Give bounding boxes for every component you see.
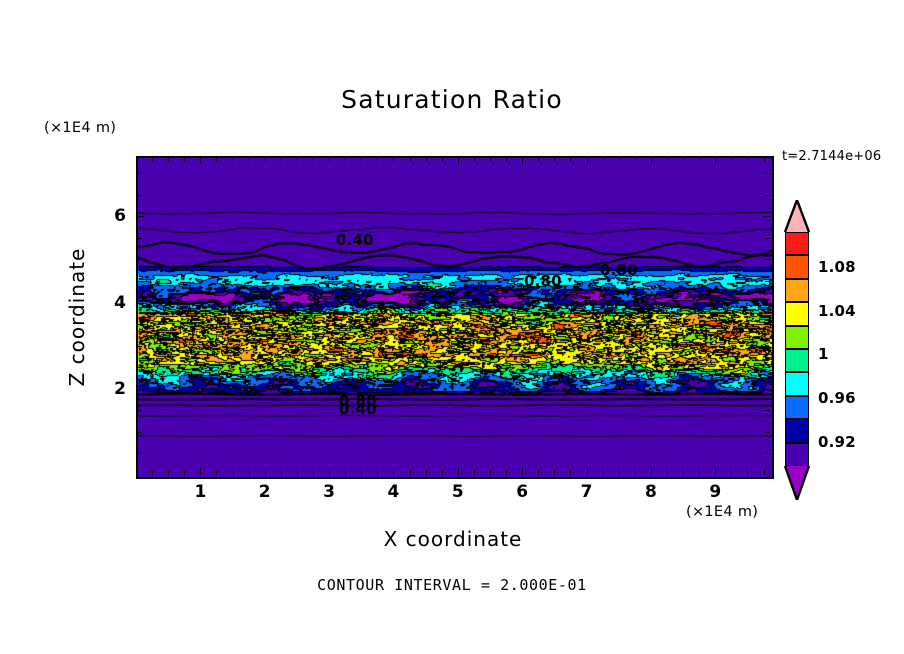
x-tick-top: [522, 157, 523, 164]
x-tick-bottom: [667, 470, 668, 475]
colorbar-tick-label: 1.08: [818, 258, 856, 276]
x-tick-bottom: [490, 470, 491, 475]
x-tick-label: 1: [180, 482, 220, 502]
x-tick-top: [747, 157, 748, 162]
y-tick-left: [137, 389, 144, 390]
y-tick-left: [137, 259, 142, 260]
figure-root: Saturation Ratio (×1E4 m) t=2.7144e+06 1…: [0, 0, 904, 654]
x-tick-label: 5: [438, 482, 478, 502]
x-tick-top: [313, 157, 314, 162]
x-tick-top: [265, 157, 266, 164]
x-tick-top: [570, 157, 571, 162]
x-tick-top: [603, 157, 604, 162]
x-tick-bottom: [458, 468, 459, 475]
contour-field: [138, 158, 772, 477]
colorbar-tick-label: 0.96: [818, 389, 856, 407]
y-tick-left: [137, 324, 142, 325]
y-tick-label: 2: [96, 379, 126, 399]
colorbar-band: [785, 349, 809, 372]
x-tick-top: [554, 157, 555, 162]
y-tick-label: 4: [96, 293, 126, 313]
y-tick-left: [137, 281, 142, 282]
y-tick-right: [765, 346, 770, 347]
colorbar-top-arrow: [785, 202, 809, 232]
x-tick-bottom: [410, 470, 411, 475]
x-tick-bottom: [393, 468, 394, 475]
y-tick-left: [137, 453, 142, 454]
colorbar-band: [785, 326, 809, 349]
x-tick-label: 9: [695, 482, 735, 502]
x-tick-bottom: [715, 468, 716, 475]
colorbar-band: [785, 255, 809, 278]
y-tick-right: [765, 367, 770, 368]
x-tick-top: [152, 157, 153, 162]
x-tick-label: 2: [245, 482, 285, 502]
x-tick-bottom: [683, 470, 684, 475]
x-tick-bottom: [313, 470, 314, 475]
y-tick-left: [137, 238, 142, 239]
colorbar-tick-label: 0.92: [818, 433, 856, 451]
x-tick-top: [249, 157, 250, 162]
y-tick-right: [765, 410, 770, 411]
x-tick-bottom: [474, 470, 475, 475]
y-tick-right: [765, 453, 770, 454]
x-tick-bottom: [361, 470, 362, 475]
y-tick-left: [137, 367, 142, 368]
y-tick-left: [137, 432, 142, 433]
y-tick-right: [763, 389, 770, 390]
x-tick-top: [715, 157, 716, 164]
x-tick-top: [184, 157, 185, 162]
x-tick-top: [377, 157, 378, 162]
y-tick-right: [763, 303, 770, 304]
y-tick-left: [137, 173, 142, 174]
contour-label: 0.40: [339, 400, 377, 418]
contour-interval-caption: CONTOUR INTERVAL = 2.000E-01: [0, 576, 904, 594]
x-tick-bottom: [168, 470, 169, 475]
x-tick-bottom: [281, 470, 282, 475]
x-tick-bottom: [345, 470, 346, 475]
x-tick-bottom: [747, 470, 748, 475]
timestamp-label: t=2.7144e+06: [782, 149, 881, 164]
x-tick-top: [474, 157, 475, 162]
y-axis-title: Z coordinate: [65, 227, 89, 407]
x-tick-label: 3: [309, 482, 349, 502]
x-tick-top: [458, 157, 459, 164]
x-tick-bottom: [506, 470, 507, 475]
x-tick-top: [731, 157, 732, 162]
y-tick-left: [137, 216, 144, 217]
x-tick-top: [699, 157, 700, 162]
x-unit-label: (×1E4 m): [686, 504, 758, 520]
x-tick-bottom: [377, 470, 378, 475]
colorbar-band: [785, 372, 809, 395]
x-tick-top: [651, 157, 652, 164]
x-tick-top: [297, 157, 298, 162]
y-tick-right: [763, 216, 770, 217]
x-tick-top: [506, 157, 507, 162]
y-tick-left: [137, 346, 142, 347]
x-tick-top: [281, 157, 282, 162]
chart-title: Saturation Ratio: [0, 85, 904, 114]
x-tick-bottom: [570, 470, 571, 475]
colorbar-tick-label: 1.04: [818, 302, 856, 320]
x-tick-bottom: [426, 470, 427, 475]
x-tick-bottom: [699, 470, 700, 475]
x-tick-label: 8: [631, 482, 671, 502]
x-tick-label: 7: [567, 482, 607, 502]
colorbar-band: [785, 443, 809, 466]
plot-area: [136, 156, 774, 479]
x-tick-top: [393, 157, 394, 164]
colorbar-band: [785, 396, 809, 419]
x-tick-bottom: [200, 468, 201, 475]
colorbar: [785, 232, 809, 466]
x-tick-bottom: [184, 470, 185, 475]
colorbar-tick-label: 1: [818, 345, 829, 363]
x-tick-bottom: [538, 470, 539, 475]
y-tick-right: [765, 324, 770, 325]
y-tick-right: [765, 259, 770, 260]
x-tick-bottom: [603, 470, 604, 475]
x-tick-label: 6: [502, 482, 542, 502]
x-tick-top: [635, 157, 636, 162]
x-tick-top: [216, 157, 217, 162]
x-tick-bottom: [265, 468, 266, 475]
x-tick-label: 4: [373, 482, 413, 502]
colorbar-band: [785, 302, 809, 325]
x-tick-top: [683, 157, 684, 162]
x-tick-bottom: [619, 470, 620, 475]
contour-label: 0.80: [600, 261, 638, 279]
x-axis-title: X coordinate: [136, 527, 770, 551]
x-tick-top: [345, 157, 346, 162]
colorbar-band: [785, 279, 809, 302]
x-tick-bottom: [249, 470, 250, 475]
x-tick-top: [329, 157, 330, 164]
colorbar-band: [785, 232, 809, 255]
x-tick-bottom: [442, 470, 443, 475]
x-tick-top: [410, 157, 411, 162]
x-tick-bottom: [651, 468, 652, 475]
y-tick-left: [137, 303, 144, 304]
contour-label: 0.80: [524, 272, 562, 290]
x-tick-bottom: [297, 470, 298, 475]
x-tick-top: [764, 157, 765, 162]
x-tick-bottom: [522, 468, 523, 475]
x-tick-bottom: [233, 470, 234, 475]
y-tick-right: [765, 238, 770, 239]
y-tick-right: [765, 173, 770, 174]
y-tick-right: [765, 195, 770, 196]
x-tick-top: [442, 157, 443, 162]
x-tick-top: [490, 157, 491, 162]
x-tick-bottom: [554, 470, 555, 475]
x-tick-bottom: [587, 468, 588, 475]
y-tick-left: [137, 195, 142, 196]
x-tick-top: [361, 157, 362, 162]
y-tick-label: 6: [96, 206, 126, 226]
x-tick-top: [587, 157, 588, 164]
x-tick-bottom: [216, 470, 217, 475]
x-tick-bottom: [635, 470, 636, 475]
y-unit-label: (×1E4 m): [44, 120, 116, 136]
x-tick-top: [426, 157, 427, 162]
x-tick-top: [538, 157, 539, 162]
x-tick-top: [168, 157, 169, 162]
y-tick-left: [137, 410, 142, 411]
x-tick-bottom: [329, 468, 330, 475]
x-tick-top: [233, 157, 234, 162]
y-tick-right: [765, 281, 770, 282]
contour-label: 0.40: [336, 231, 374, 249]
x-tick-bottom: [764, 470, 765, 475]
x-tick-bottom: [152, 470, 153, 475]
x-tick-top: [200, 157, 201, 164]
y-tick-right: [765, 432, 770, 433]
colorbar-bottom-arrow: [785, 466, 809, 498]
x-tick-bottom: [731, 470, 732, 475]
colorbar-band: [785, 419, 809, 442]
x-tick-top: [667, 157, 668, 162]
x-tick-top: [619, 157, 620, 162]
